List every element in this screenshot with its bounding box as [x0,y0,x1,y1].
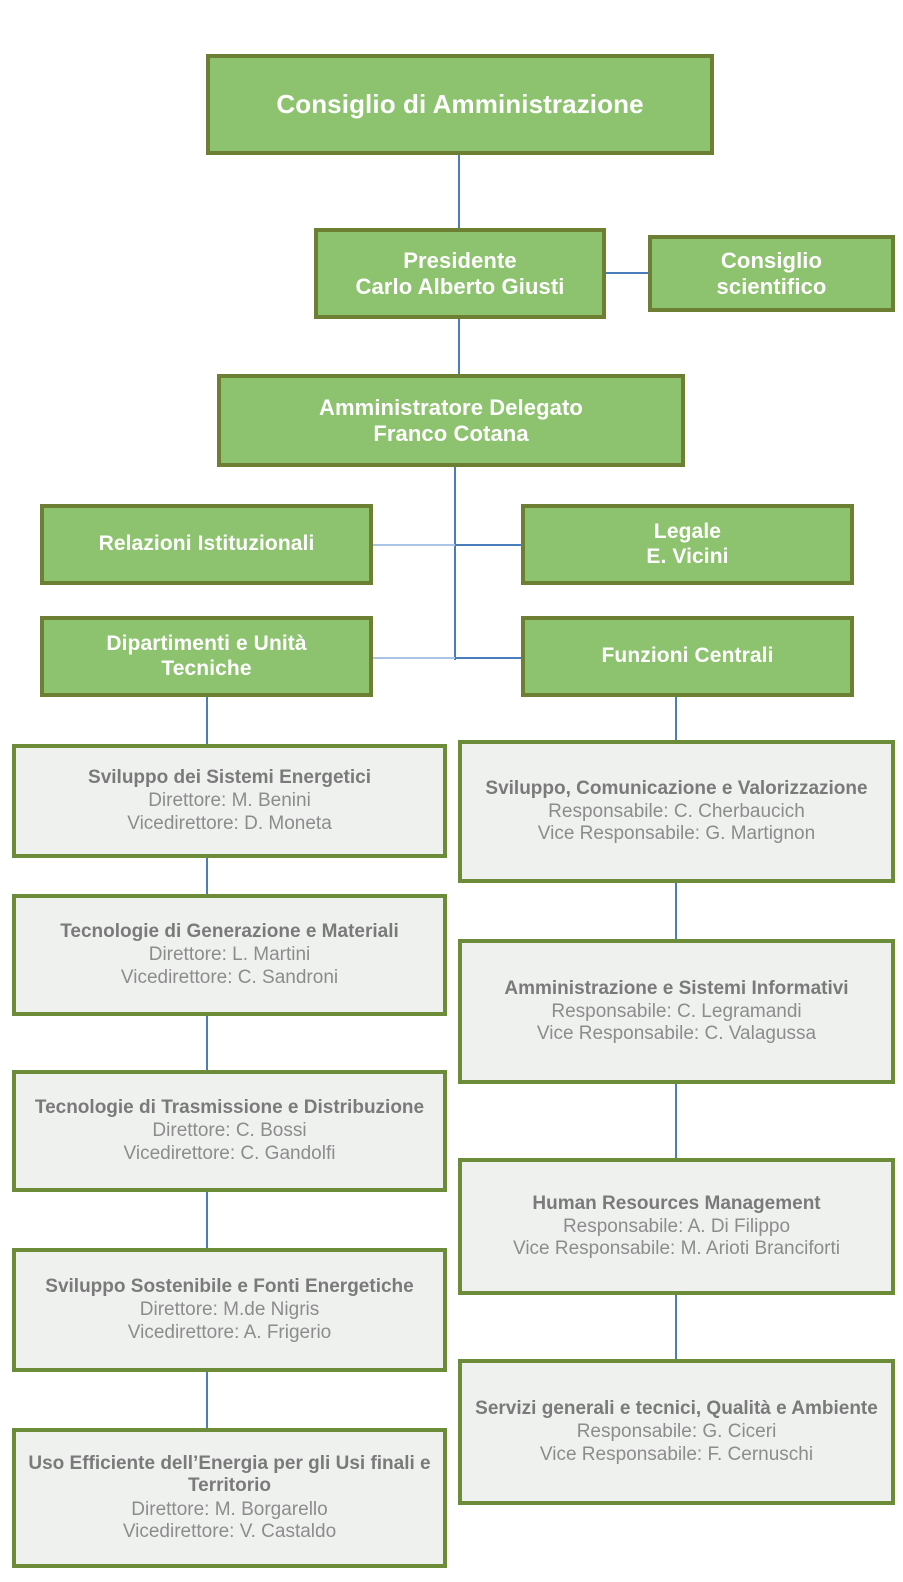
unit-box-function-1[interactable]: Sviluppo, Comunicazione e Valorizzazione… [458,740,895,883]
department-5-director: Direttore: M. Borgarello [26,1499,433,1521]
connector-function-3-to-function-4 [675,1295,677,1359]
institutional-relations-label: Relazioni Istituzionali [99,532,315,557]
department-5-vicedirector: Vicedirettore: V. Castaldo [26,1521,433,1543]
function-2-manager: Responsabile: C. Legramandi [472,1001,881,1023]
connector-trunk-to-central-functions [455,657,522,659]
unit-box-function-3[interactable]: Human Resources Management Responsabile:… [458,1158,895,1295]
connector-trunk-to-departments [373,657,455,659]
box-departments-and-technical-units[interactable]: Dipartimenti e Unità Tecniche [40,616,373,697]
department-1-title: Sviluppo dei Sistemi Energetici [26,767,433,789]
central-functions-label: Funzioni Centrali [601,644,773,669]
connector-central-functions-to-function-1 [675,696,677,740]
connector-departments-to-unit-1 [206,696,208,744]
unit-box-function-4[interactable]: Servizi generali e tecnici, Qualità e Am… [458,1359,895,1505]
department-2-title: Tecnologie di Generazione e Materiali [26,921,433,943]
box-president[interactable]: Presidente Carlo Alberto Giusti [314,228,606,319]
unit-box-department-5[interactable]: Uso Efficiente dell’Energia per gli Usi … [12,1428,447,1568]
function-4-vice-manager: Vice Responsabile: F. Cernuschi [472,1444,881,1466]
departments-line-2: Tecniche [106,657,306,682]
box-ceo[interactable]: Amministratore Delegato Franco Cotana [217,374,685,467]
connector-unit-1-to-unit-2 [206,858,208,894]
department-1-vicedirector: Vicedirettore: D. Moneta [26,813,433,835]
president-name: Carlo Alberto Giusti [356,274,565,300]
department-2-director: Direttore: L. Martini [26,944,433,966]
box-legal[interactable]: Legale E. Vicini [521,504,854,585]
ceo-role: Amministratore Delegato [319,395,583,421]
departments-line-1: Dipartimenti e Unità [106,632,306,657]
legal-name: E. Vicini [646,545,728,570]
board-label: Consiglio di Amministrazione [276,89,643,120]
unit-box-function-2[interactable]: Amministrazione e Sistemi Informativi Re… [458,939,895,1084]
department-1-director: Direttore: M. Benini [26,790,433,812]
connector-trunk-to-institutional-relations [373,544,455,546]
function-3-title: Human Resources Management [472,1193,881,1215]
department-3-title: Tecnologie di Trasmissione e Distribuzio… [26,1097,433,1119]
connector-trunk-to-legal [455,544,522,546]
scientific-council-line-2: scientifico [717,274,827,300]
unit-box-department-3[interactable]: Tecnologie di Trasmissione e Distribuzio… [12,1070,447,1192]
function-1-title: Sviluppo, Comunicazione e Valorizzazione [472,778,881,800]
box-scientific-council[interactable]: Consiglio scientifico [648,235,895,312]
connector-president-to-scientific-council [606,272,649,274]
function-3-manager: Responsabile: A. Di Filippo [472,1216,881,1238]
legal-role: Legale [646,520,728,545]
unit-box-department-4[interactable]: Sviluppo Sostenibile e Fonti Energetiche… [12,1248,447,1372]
president-role: Presidente [356,248,565,274]
department-3-director: Direttore: C. Bossi [26,1120,433,1142]
box-institutional-relations[interactable]: Relazioni Istituzionali [40,504,373,585]
unit-box-department-1[interactable]: Sviluppo dei Sistemi Energetici Direttor… [12,744,447,858]
function-1-vice-manager: Vice Responsabile: G. Martignon [472,823,881,845]
org-chart: Consiglio di Amministrazione Presidente … [0,0,903,1582]
connector-president-to-ceo [458,319,460,374]
connector-function-1-to-function-2 [675,883,677,939]
connector-ceo-trunk [454,467,456,660]
connector-unit-4-to-unit-5 [206,1372,208,1428]
box-board-of-directors[interactable]: Consiglio di Amministrazione [206,54,714,155]
department-4-title: Sviluppo Sostenibile e Fonti Energetiche [26,1276,433,1298]
department-4-director: Direttore: M.de Nigris [26,1299,433,1321]
function-1-manager: Responsabile: C. Cherbaucich [472,801,881,823]
ceo-name: Franco Cotana [319,421,583,447]
department-5-title: Uso Efficiente dell’Energia per gli Usi … [26,1453,433,1497]
connector-unit-3-to-unit-4 [206,1192,208,1248]
box-central-functions[interactable]: Funzioni Centrali [521,616,854,697]
connector-function-2-to-function-3 [675,1084,677,1158]
scientific-council-line-1: Consiglio [717,248,827,274]
connector-unit-2-to-unit-3 [206,1016,208,1070]
connector-board-to-president [458,155,460,228]
department-3-vicedirector: Vicedirettore: C. Gandolfi [26,1143,433,1165]
function-2-title: Amministrazione e Sistemi Informativi [472,978,881,1000]
function-4-title: Servizi generali e tecnici, Qualità e Am… [472,1398,881,1420]
unit-box-department-2[interactable]: Tecnologie di Generazione e Materiali Di… [12,894,447,1016]
department-4-vicedirector: Vicedirettore: A. Frigerio [26,1322,433,1344]
function-3-vice-manager: Vice Responsabile: M. Arioti Branciforti [472,1238,881,1260]
department-2-vicedirector: Vicedirettore: C. Sandroni [26,967,433,989]
function-4-manager: Responsabile: G. Ciceri [472,1421,881,1443]
function-2-vice-manager: Vice Responsabile: C. Valagussa [472,1023,881,1045]
